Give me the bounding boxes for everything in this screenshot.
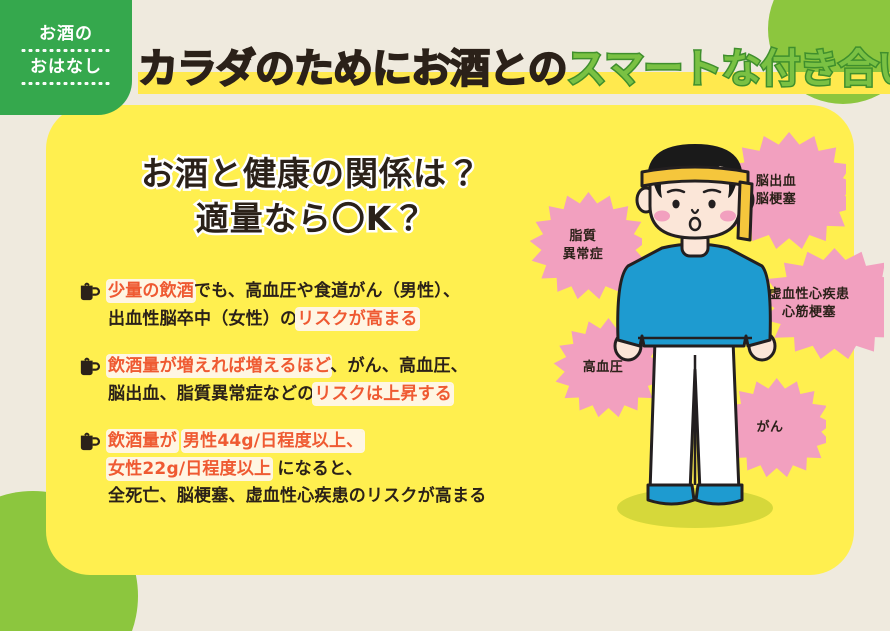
bullet-emphasis-text: 飲酒量が xyxy=(108,431,177,451)
heading-line-2: 適量なら〇K？ xyxy=(96,197,526,242)
beer-mug-icon xyxy=(78,282,100,301)
title-accent-text: スマートな付き合い方 xyxy=(567,49,890,89)
headband-tassel xyxy=(738,182,752,240)
burst-label-line: 脂質 xyxy=(563,228,604,246)
bullet-line: 飲酒量が 男性44g/日程度以上、 xyxy=(108,428,548,456)
bullet-line: 少量の飲酒でも、高血圧や食道がん（男性）、 xyxy=(108,278,548,306)
badge-line-2: おはなし xyxy=(30,59,102,77)
bullet-line: 出血性脳卒中（女性）のリスクが高まる xyxy=(108,306,548,334)
bullet-text: 、がん、高血圧、 xyxy=(330,356,468,376)
bullet-text: になると、 xyxy=(271,459,362,479)
character-cheek-left xyxy=(654,211,670,222)
page-title: カラダのためにお酒との スマートな付き合い方 xyxy=(138,42,890,96)
bullet-emphasis-text: 女性22g/日程度以上 xyxy=(108,459,271,479)
character-eye-right xyxy=(708,200,715,209)
bullet-text: でも、高血圧や食道がん（男性）、 xyxy=(194,281,460,301)
bullet-text: 出血性脳卒中（女性）の xyxy=(108,309,297,329)
bullet-item: 飲酒量が増えれば増えるほど、がん、高血圧、脳出血、脂質異常症などのリスクは上昇す… xyxy=(78,353,548,408)
bullet-text: 全死亡、脳梗塞、虚血性心疾患のリスクが高まる xyxy=(108,486,486,506)
bullet-line: 女性22g/日程度以上 になると、 xyxy=(108,456,548,484)
bullet-list: 少量の飲酒でも、高血圧や食道がん（男性）、出血性脳卒中（女性）のリスクが高まる … xyxy=(78,278,548,531)
main-heading: お酒と健康の関係は？ 適量なら〇K？ xyxy=(96,152,526,241)
heading-line-1: お酒と健康の関係は？ xyxy=(96,152,526,197)
bullet-emphasis-text: リスクは上昇する xyxy=(314,384,452,404)
character-shadow xyxy=(617,488,773,528)
title-plain-text: カラダのためにお酒との xyxy=(138,49,567,89)
beer-mug-icon xyxy=(78,432,100,451)
bullet-line: 全死亡、脳梗塞、虚血性心疾患のリスクが高まる xyxy=(108,483,548,511)
bullet-line: 飲酒量が増えれば増えるほど、がん、高血圧、 xyxy=(108,353,548,381)
character-shirt xyxy=(618,244,771,346)
bullet-emphasis-text: 少量の飲酒 xyxy=(108,281,194,301)
character-cheek-right xyxy=(720,211,736,222)
bullet-item: 飲酒量が 男性44g/日程度以上、女性22g/日程度以上 になると、全死亡、脳梗… xyxy=(78,428,548,511)
infographic-slide: お酒の おはなし カラダのためにお酒との スマートな付き合い方 お酒と健康の関係… xyxy=(0,0,890,631)
burst-label: 脂質異常症 xyxy=(563,228,604,263)
bullet-emphasis-text: リスクが高まる xyxy=(297,309,417,329)
character-shoe-left xyxy=(648,485,694,504)
bullet-line: 脳出血、脂質異常症などのリスクは上昇する xyxy=(108,381,548,409)
bullet-emphasis-text: 飲酒量が増えれば増えるほど xyxy=(108,356,330,376)
character-illustration xyxy=(600,140,790,540)
character-eye-left xyxy=(672,200,679,209)
bullet-text: 脳出血、脂質異常症などの xyxy=(108,384,314,404)
burst-label-line: 異常症 xyxy=(563,246,604,264)
character-svg xyxy=(600,140,790,540)
badge-dotted-rule-1 xyxy=(20,49,112,52)
badge-dotted-rule-2 xyxy=(20,82,112,85)
badge-line-1: お酒の xyxy=(39,26,93,44)
series-badge: お酒の おはなし xyxy=(0,0,132,115)
character-shoe-right xyxy=(696,485,742,504)
beer-mug-icon xyxy=(78,357,100,376)
bullet-emphasis-text: 男性44g/日程度以上、 xyxy=(183,431,363,451)
bullet-item: 少量の飲酒でも、高血圧や食道がん（男性）、出血性脳卒中（女性）のリスクが高まる xyxy=(78,278,548,333)
